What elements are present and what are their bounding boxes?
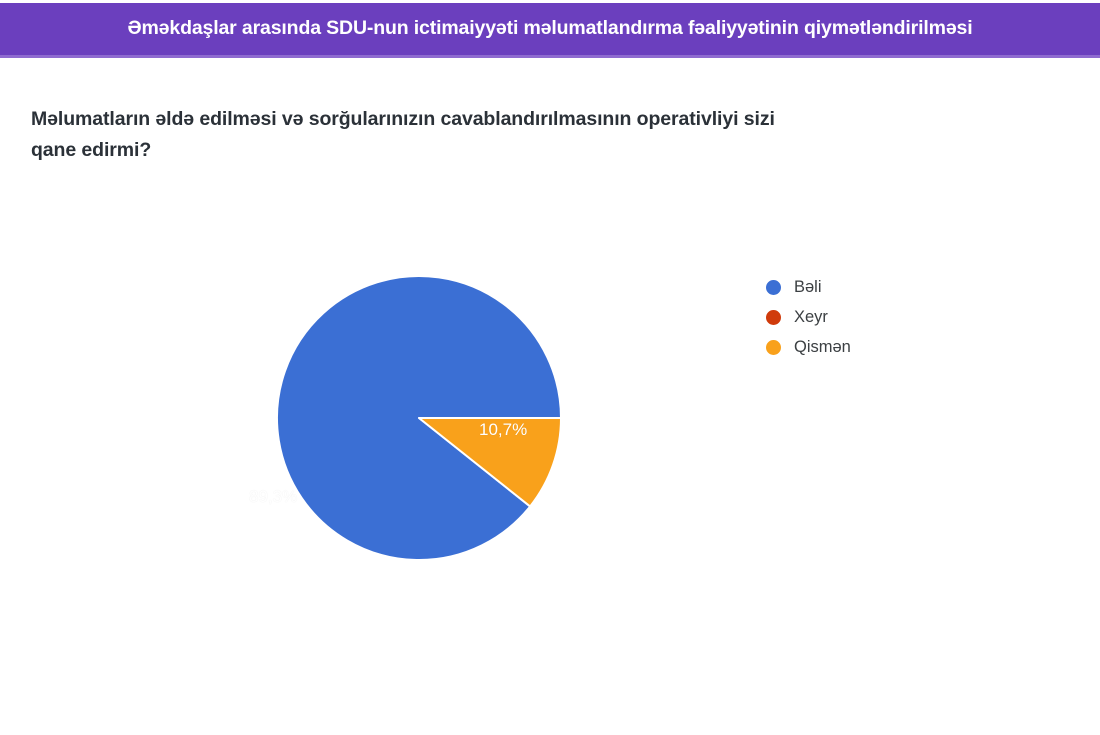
page-title: Əməkdaşlar arasında SDU-nun ictimaiyyəti… [113,19,986,39]
header-banner: Əməkdaşlar arasında SDU-nun ictimaiyyəti… [0,3,1100,55]
slice-label-beli: 89,3% [249,487,297,507]
legend-label-xeyr: Xeyr [794,309,828,326]
legend-item-qismen[interactable]: Qismən [766,332,851,362]
legend-label-beli: Bəli [794,279,822,296]
pie-chart: 89,3% 10,7% Bəli Xeyr Qismən [0,230,1100,630]
question-line-1: Məlumatların əldə edilməsi və sorğuların… [31,104,1031,135]
legend-item-beli[interactable]: Bəli [766,272,851,302]
circle-icon [766,280,781,295]
pie-svg [277,276,561,560]
pie-graphic: 89,3% 10,7% [277,276,561,560]
circle-icon [766,310,781,325]
header-underline [0,55,1100,58]
slice-label-qismen: 10,7% [479,420,527,440]
question-line-2: qane edirmi? [31,135,1031,166]
chart-legend: Bəli Xeyr Qismən [766,272,851,362]
legend-item-xeyr[interactable]: Xeyr [766,302,851,332]
pie-slices [277,276,561,560]
question-block: Məlumatların əldə edilməsi və sorğuların… [31,104,1031,166]
legend-label-qismen: Qismən [794,339,851,356]
circle-icon [766,340,781,355]
